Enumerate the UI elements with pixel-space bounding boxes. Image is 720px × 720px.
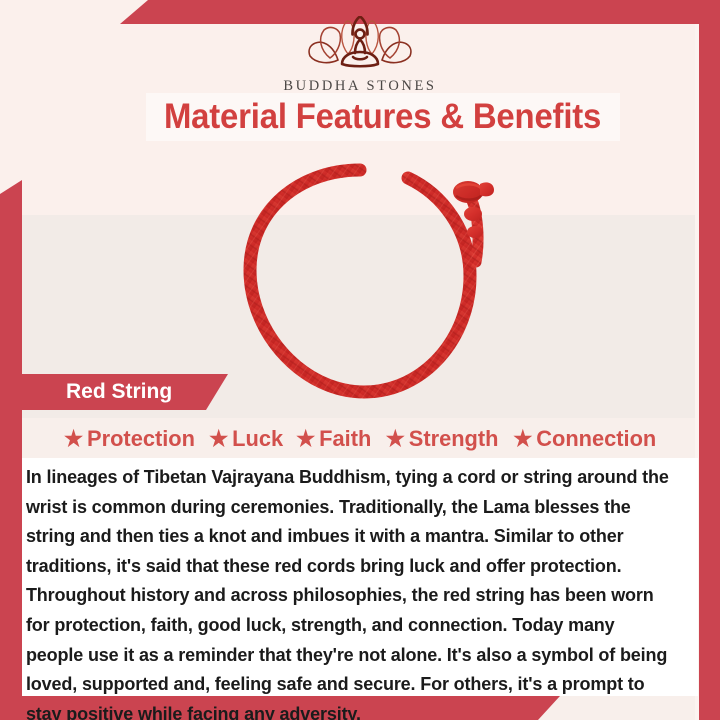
brand-logo: BUDDHA STONES	[0, 16, 720, 95]
decorative-red-bar-left	[0, 180, 22, 720]
benefits-row: ★ Protection ★ Luck ★ Faith ★ Strength ★…	[22, 422, 698, 456]
benefit-label: Faith	[319, 426, 371, 452]
infographic-poster: BUDDHA STONES Material Features & Benefi…	[0, 0, 720, 720]
benefit-item-protection: ★ Protection	[64, 426, 195, 452]
star-icon: ★	[64, 428, 83, 450]
benefit-item-faith: ★ Faith	[296, 426, 371, 452]
benefit-item-strength: ★ Strength	[385, 426, 498, 452]
star-icon: ★	[385, 428, 404, 450]
title-banner: Material Features & Benefits	[146, 93, 620, 141]
benefit-item-connection: ★ Connection	[513, 426, 656, 452]
star-icon: ★	[296, 428, 315, 450]
benefit-label: Connection	[536, 426, 656, 452]
benefit-label: Strength	[408, 426, 498, 452]
star-icon: ★	[513, 428, 532, 450]
red-braided-cord-bracelet-image	[228, 158, 496, 406]
benefit-label: Luck	[232, 426, 283, 452]
benefit-label: Protection	[87, 426, 195, 452]
benefit-item-luck: ★ Luck	[209, 426, 283, 452]
lotus-meditation-icon	[302, 16, 418, 74]
product-label-banner: Red String	[22, 374, 228, 410]
decorative-red-bar-right	[699, 24, 720, 720]
page-title: Material Features & Benefits	[164, 97, 601, 137]
star-icon: ★	[209, 428, 228, 450]
product-label: Red String	[66, 380, 172, 404]
description-panel: In lineages of Tibetan Vajrayana Buddhis…	[22, 458, 698, 696]
description-text: In lineages of Tibetan Vajrayana Buddhis…	[22, 458, 688, 720]
